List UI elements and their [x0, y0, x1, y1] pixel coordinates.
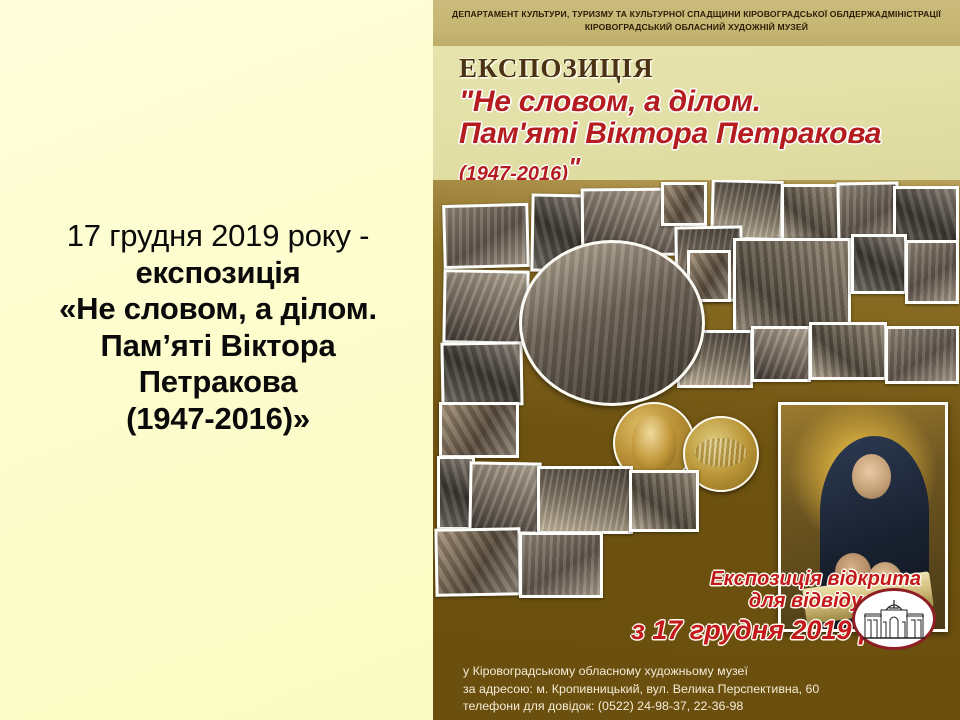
photo-table-gathering — [442, 203, 530, 269]
photo-thumbnail — [784, 187, 838, 243]
photo-woman-with-book — [629, 470, 699, 532]
slide-canvas: 17 грудня 2019 року - експозиція «Не сло… — [0, 0, 960, 720]
photo-book-presentation — [468, 461, 541, 534]
caption-line-3: «Не словом, а ділом. — [18, 291, 418, 328]
photo-standing-group — [885, 326, 959, 384]
poster-title-line-2: Пам'яті Віктора Петракова — [459, 118, 960, 150]
poster-footer-contact: у Кіровоградському обласному художньому … — [433, 655, 960, 720]
photo-thumbnail — [812, 325, 884, 377]
museum-building-logo — [852, 588, 936, 650]
photo-thumbnail — [888, 329, 956, 381]
photo-bread-table — [440, 341, 523, 406]
caption-line-4: Пам’яті Віктора — [18, 328, 418, 365]
photo-two-men-portrait — [781, 184, 841, 246]
caption-line-1: 17 грудня 2019 року - — [18, 218, 418, 255]
poster-header-band: ДЕПАРТАМЕНТ КУЛЬТУРИ, ТУРИЗМУ ТА КУЛЬТУР… — [433, 0, 960, 46]
photo-group-corner — [661, 182, 707, 226]
photo-thumbnail — [442, 405, 516, 455]
photo-thumbnail — [445, 272, 526, 341]
photo-audience-seated — [751, 326, 811, 382]
poster-kicker: ЕКСПОЗИЦІЯ — [459, 55, 960, 82]
photo-thumbnail — [854, 237, 904, 291]
footer-address: за адресою: м. Кропивницький, вул. Велик… — [463, 681, 960, 699]
caption-line-5: Петракова — [18, 364, 418, 401]
photo-thumbnail — [754, 329, 808, 379]
photo-gallery-wall — [851, 234, 907, 294]
exhibition-poster: ДЕПАРТАМЕНТ КУЛЬТУРИ, ТУРИЗМУ ТА КУЛЬТУР… — [433, 0, 960, 720]
photo-thumbnail — [471, 464, 538, 531]
photo-group-lower — [519, 532, 603, 598]
photo-thumbnail — [522, 535, 600, 595]
photo-thumbnail — [445, 206, 526, 266]
closing-quote: " — [568, 152, 580, 182]
photo-award-ceremony — [442, 269, 529, 344]
madonna-face-shape — [852, 454, 891, 499]
event-caption: 17 грудня 2019 року - експозиція «Не сло… — [18, 218, 418, 437]
photo-thumbnail — [632, 473, 696, 529]
photo-thumbnail — [908, 243, 956, 301]
photo-two-men-smiling — [537, 466, 633, 534]
open-notice-line-1: Експозиція відкрита — [621, 568, 921, 590]
caption-line-2: експозиція — [18, 255, 418, 292]
footer-phones: телефони для довідок: (0522) 24-98-37, 2… — [463, 698, 960, 716]
poster-main-title: "Не словом, а ділом. Пам'яті Віктора Пет… — [459, 86, 960, 151]
photo-gallery-visitors-lower — [434, 527, 521, 596]
poster-header-line-2: КІРОВОГРАДСЬКИЙ ОБЛАСНИЙ ХУДОЖНІЙ МУЗЕЙ — [433, 21, 960, 34]
poster-header-line-1: ДЕПАРТАМЕНТ КУЛЬТУРИ, ТУРИЗМУ ТА КУЛЬТУР… — [433, 8, 960, 21]
poster-title-line-1: "Не словом, а ділом. — [459, 86, 960, 118]
photo-petrakov-with-colleague — [519, 240, 705, 406]
photo-thumbnail — [664, 185, 704, 223]
photo-thumbnail — [443, 344, 520, 403]
photo-collage: Експозиція відкрита для відвідування з 1… — [433, 180, 960, 655]
photo-exhibition-hall — [905, 240, 959, 304]
footer-venue: у Кіровоградському обласному художньому … — [463, 663, 960, 681]
photo-thumbnail — [440, 459, 472, 527]
left-caption-panel: 17 грудня 2019 року - експозиція «Не сло… — [0, 0, 433, 720]
caption-line-6: (1947-2016)» — [18, 401, 418, 438]
photo-thumbnail — [540, 469, 630, 531]
poster-title-block: ЕКСПОЗИЦІЯ "Не словом, а ділом. Пам'яті … — [433, 46, 960, 196]
photo-outdoor-group — [439, 402, 519, 458]
photo-visitors-gallery — [809, 322, 887, 380]
museum-building-icon — [861, 598, 927, 640]
photo-thumbnail — [437, 530, 518, 593]
